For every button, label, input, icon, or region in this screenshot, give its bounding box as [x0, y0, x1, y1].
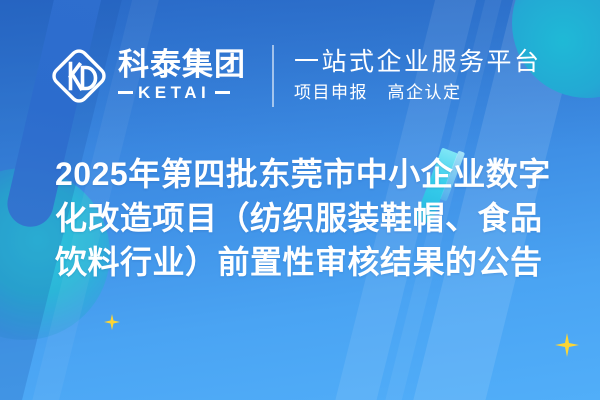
announcement-title-line-2: 化改造项目（纺织服装鞋帽、食品	[55, 196, 565, 240]
tagline-sub-item-2: 高企认定	[387, 83, 461, 102]
four-point-star-sparkle-icon-large	[555, 333, 579, 357]
four-point-star-sparkle-icon-small	[104, 314, 120, 330]
tagline-sub-item-1: 项目申报	[294, 83, 368, 102]
tagline-sub-row: 项目申报 高企认定	[294, 82, 542, 105]
tagline-main-text: 一站式企业服务平台	[294, 47, 542, 78]
header-divider	[272, 45, 274, 107]
brand-logo-lockup[interactable]: 科泰集团 KETAI	[48, 45, 246, 107]
announcement-banner: 科泰集团 KETAI 一站式企业服务平台 项目申报 高企认定 2025年第四批东…	[0, 0, 600, 400]
wordmark-rule-right-icon	[215, 91, 230, 94]
wordmark-rule-left-icon	[118, 91, 133, 94]
ketai-diamond-monogram-icon	[48, 45, 110, 107]
announcement-title: 2025年第四批东莞市中小企业数字 化改造项目（纺织服装鞋帽、食品 饮料行业）前…	[55, 152, 565, 284]
brand-name-cn: 科泰集团	[118, 49, 246, 82]
brand-tagline: 一站式企业服务平台 项目申报 高企认定	[294, 47, 542, 105]
announcement-title-line-3: 饮料行业）前置性审核结果的公告	[55, 240, 565, 284]
announcement-title-line-1: 2025年第四批东莞市中小企业数字	[55, 152, 565, 196]
brand-wordmark: 科泰集团 KETAI	[118, 49, 246, 103]
brand-name-en: KETAI	[138, 83, 210, 103]
brand-name-en-row: KETAI	[118, 83, 246, 103]
banner-header: 科泰集团 KETAI 一站式企业服务平台 项目申报 高企认定	[0, 30, 600, 122]
